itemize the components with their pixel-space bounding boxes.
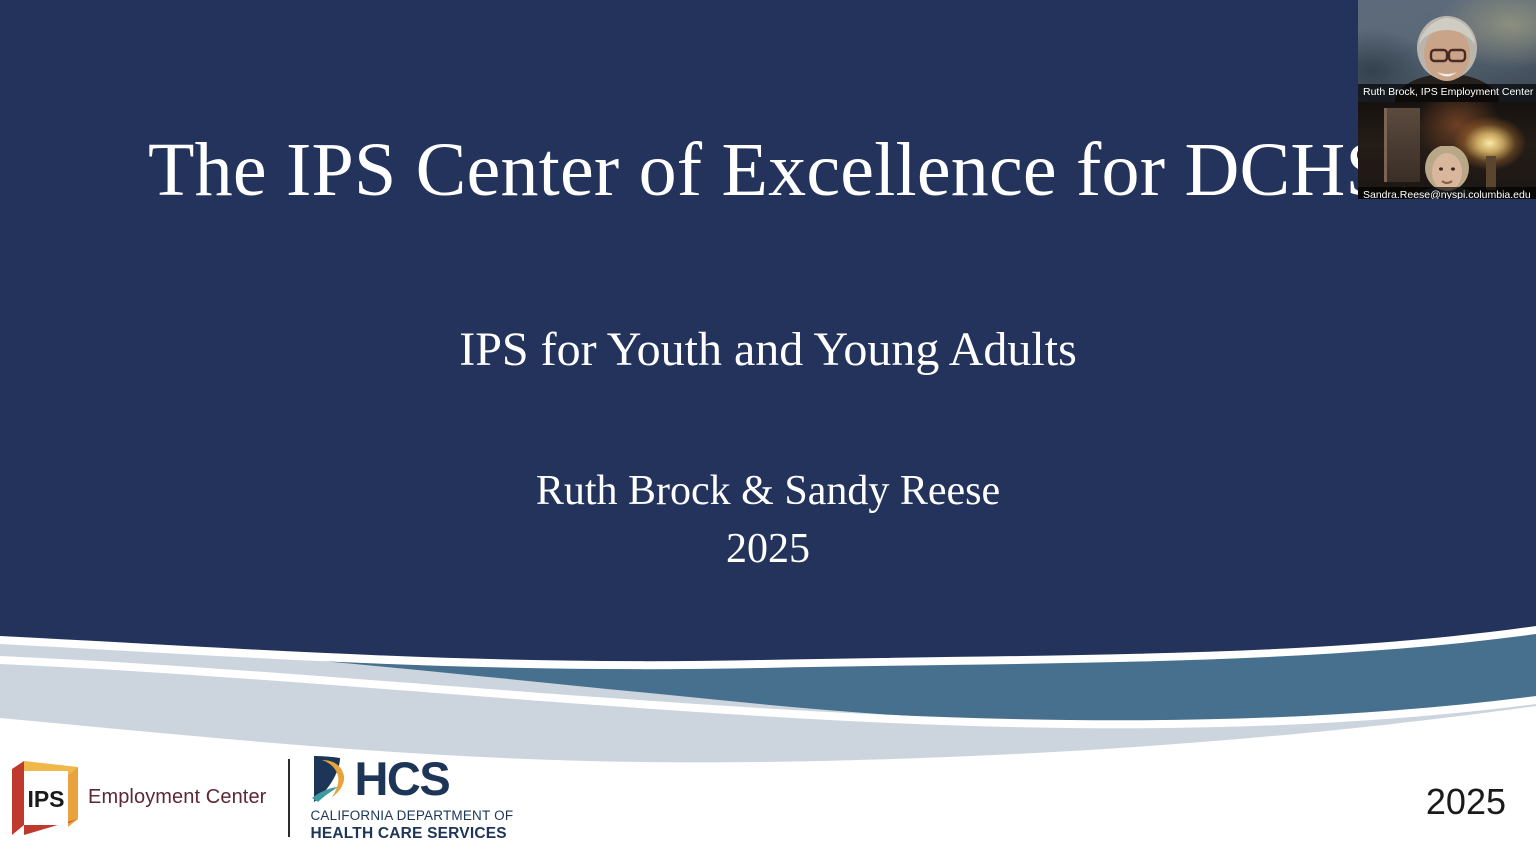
dhcs-swoosh-icon [310, 754, 360, 804]
dhcs-department-line: CALIFORNIA DEPARTMENT OF [310, 807, 513, 824]
dhcs-logo-top: HCS [310, 754, 513, 804]
slide-wave-decoration [0, 590, 1536, 770]
slide-subtitle: IPS for Youth and Young Adults [0, 320, 1536, 380]
slide-year: 2025 [0, 520, 1536, 578]
dhcs-services-line: HEALTH CARE SERVICES [310, 824, 513, 843]
ips-logo-icon: IPS [12, 761, 78, 835]
dhcs-logo: HCS CALIFORNIA DEPARTMENT OF HEALTH CARE… [310, 754, 513, 843]
ips-logo-label: IPS [27, 786, 64, 812]
slide-title: The IPS Center of Excellence for DCHS [0, 128, 1536, 212]
video-tile-sandra-reese[interactable]: Sandra.Reese@nyspi.columbia.edu [1358, 102, 1536, 205]
footer-page-year: 2025 [1426, 780, 1506, 824]
footer-logo-divider [288, 759, 290, 837]
ips-box-left-face [12, 761, 24, 835]
slide-presenters: Ruth Brock & Sandy Reese [0, 462, 1536, 520]
ips-wordmark-label: Employment Center [88, 786, 266, 811]
participant-eye-left [1439, 167, 1443, 170]
video-participant-name-ruth: Ruth Brock, IPS Employment Center [1358, 84, 1536, 102]
presentation-slide-screen: The IPS Center of Excellence for DCHS IP… [0, 0, 1536, 859]
video-overlay-bottom-edge [1358, 199, 1536, 205]
participant-face [1432, 153, 1462, 191]
dhcs-letters-label: HCS [354, 755, 449, 802]
participant-eye-right [1451, 167, 1455, 170]
video-tile-ruth-brock[interactable]: Ruth Brock, IPS Employment Center [1358, 0, 1536, 102]
footer-logo-group: IPS Employment Center HCS CALIFORNIA DEP… [12, 752, 513, 844]
ips-box-right-face [68, 767, 78, 827]
video-overlay-panel[interactable]: Ruth Brock, IPS Employment Center Sandra… [1358, 0, 1536, 205]
